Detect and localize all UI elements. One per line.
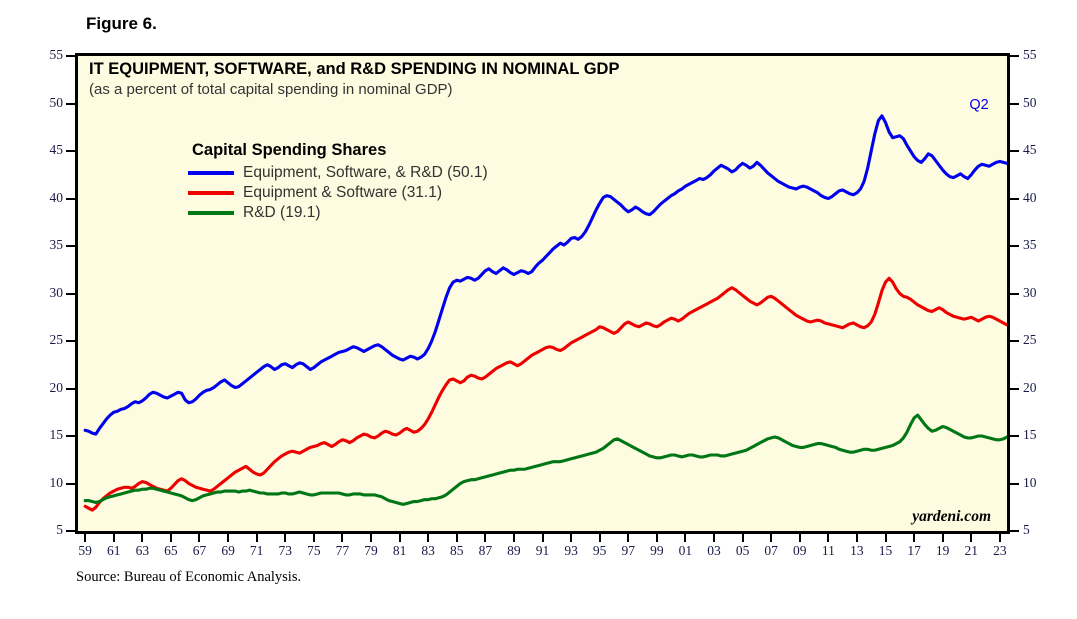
x-axis-label-73: 73 — [270, 543, 300, 559]
y-axis-label-left-15: 15 — [33, 427, 63, 443]
x-tick — [513, 534, 515, 542]
x-axis-label-61: 61 — [99, 543, 129, 559]
y-axis-label-left-35: 35 — [33, 237, 63, 253]
x-tick — [885, 534, 887, 542]
chart-title: IT EQUIPMENT, SOFTWARE, and R&D SPENDING… — [89, 60, 619, 79]
source-note: Source: Bureau of Economic Analysis. — [76, 569, 301, 586]
x-tick — [542, 534, 544, 542]
y-tick-left — [66, 483, 75, 485]
y-axis-label-right-45: 45 — [1023, 142, 1053, 158]
x-tick — [198, 534, 200, 542]
x-axis-label-01: 01 — [670, 543, 700, 559]
legend-title: Capital Spending Shares — [192, 141, 488, 160]
x-tick — [684, 534, 686, 542]
y-axis-label-left-20: 20 — [33, 380, 63, 396]
x-tick — [970, 534, 972, 542]
x-axis-label-71: 71 — [242, 543, 272, 559]
chart-subtitle: (as a percent of total capital spending … — [89, 81, 453, 98]
legend-label-equipment-software-rd: Equipment, Software, & R&D (50.1) — [243, 164, 488, 182]
x-axis-label-03: 03 — [699, 543, 729, 559]
y-tick-left — [66, 198, 75, 200]
y-tick-right — [1010, 55, 1019, 57]
x-axis-label-99: 99 — [642, 543, 672, 559]
x-tick — [656, 534, 658, 542]
y-tick-right — [1010, 150, 1019, 152]
y-axis-label-left-10: 10 — [33, 475, 63, 491]
y-axis-label-right-15: 15 — [1023, 427, 1053, 443]
legend-label-equipment-software: Equipment & Software (31.1) — [243, 184, 442, 202]
x-tick — [456, 534, 458, 542]
x-axis-label-21: 21 — [956, 543, 986, 559]
y-tick-right — [1010, 340, 1019, 342]
x-axis-label-19: 19 — [928, 543, 958, 559]
x-axis-label-91: 91 — [528, 543, 558, 559]
watermark: yardeni.com — [912, 508, 991, 526]
x-axis-label-75: 75 — [299, 543, 329, 559]
x-tick — [713, 534, 715, 542]
y-axis-label-left-50: 50 — [33, 95, 63, 111]
x-axis-label-11: 11 — [813, 543, 843, 559]
y-tick-left — [66, 530, 75, 532]
x-axis-label-65: 65 — [156, 543, 186, 559]
x-tick — [141, 534, 143, 542]
x-axis-label-69: 69 — [213, 543, 243, 559]
legend-item-equipment-software-rd: Equipment, Software, & R&D (50.1) — [188, 163, 488, 183]
x-axis-label-93: 93 — [556, 543, 586, 559]
x-tick — [827, 534, 829, 542]
y-axis-label-right-20: 20 — [1023, 380, 1053, 396]
y-axis-label-right-30: 30 — [1023, 285, 1053, 301]
q2-annotation: Q2 — [969, 97, 988, 113]
x-tick — [484, 534, 486, 542]
y-tick-left — [66, 103, 75, 105]
x-tick — [227, 534, 229, 542]
y-axis-label-left-45: 45 — [33, 142, 63, 158]
x-axis-label-87: 87 — [470, 543, 500, 559]
y-axis-label-right-5: 5 — [1023, 522, 1053, 538]
x-axis-label-77: 77 — [327, 543, 357, 559]
y-tick-right — [1010, 388, 1019, 390]
x-axis-label-15: 15 — [871, 543, 901, 559]
x-axis-label-79: 79 — [356, 543, 386, 559]
x-axis-label-07: 07 — [756, 543, 786, 559]
series-line-equipment-software — [85, 278, 1007, 510]
y-axis-label-left-55: 55 — [33, 47, 63, 63]
legend-item-equipment-software: Equipment & Software (31.1) — [188, 183, 488, 203]
x-tick — [427, 534, 429, 542]
x-axis-label-95: 95 — [585, 543, 615, 559]
chart-legend: Capital Spending Shares Equipment, Softw… — [188, 141, 488, 223]
legend-label-rd: R&D (19.1) — [243, 204, 321, 222]
x-tick — [256, 534, 258, 542]
x-tick — [113, 534, 115, 542]
y-tick-left — [66, 245, 75, 247]
y-tick-left — [66, 340, 75, 342]
x-axis-label-81: 81 — [385, 543, 415, 559]
x-tick — [913, 534, 915, 542]
x-axis-label-85: 85 — [442, 543, 472, 559]
x-axis-label-67: 67 — [184, 543, 214, 559]
x-axis-label-89: 89 — [499, 543, 529, 559]
x-axis-label-23: 23 — [985, 543, 1015, 559]
y-axis-label-right-50: 50 — [1023, 95, 1053, 111]
y-axis-label-right-55: 55 — [1023, 47, 1053, 63]
chart-svg — [78, 56, 1007, 531]
x-axis-label-83: 83 — [413, 543, 443, 559]
y-tick-left — [66, 388, 75, 390]
x-tick — [170, 534, 172, 542]
x-axis-label-63: 63 — [127, 543, 157, 559]
legend-swatch-green — [188, 211, 234, 215]
figure-label: Figure 6. — [86, 14, 157, 34]
x-tick — [627, 534, 629, 542]
x-tick — [341, 534, 343, 542]
x-tick — [84, 534, 86, 542]
chart-plot-area: IT EQUIPMENT, SOFTWARE, and R&D SPENDING… — [75, 53, 1010, 534]
y-tick-right — [1010, 293, 1019, 295]
y-tick-left — [66, 293, 75, 295]
y-tick-right — [1010, 103, 1019, 105]
x-tick — [770, 534, 772, 542]
x-axis-label-13: 13 — [842, 543, 872, 559]
legend-swatch-red — [188, 191, 234, 195]
x-axis-label-97: 97 — [613, 543, 643, 559]
y-tick-right — [1010, 530, 1019, 532]
x-tick — [570, 534, 572, 542]
y-tick-right — [1010, 198, 1019, 200]
y-axis-label-left-5: 5 — [33, 522, 63, 538]
x-tick — [284, 534, 286, 542]
y-tick-left — [66, 435, 75, 437]
x-tick — [599, 534, 601, 542]
y-tick-right — [1010, 435, 1019, 437]
x-tick — [942, 534, 944, 542]
x-tick — [856, 534, 858, 542]
x-tick — [999, 534, 1001, 542]
y-axis-label-right-35: 35 — [1023, 237, 1053, 253]
y-axis-label-left-30: 30 — [33, 285, 63, 301]
x-tick — [742, 534, 744, 542]
legend-swatch-blue — [188, 171, 234, 175]
y-axis-label-right-10: 10 — [1023, 475, 1053, 491]
y-axis-label-right-40: 40 — [1023, 190, 1053, 206]
y-tick-left — [66, 150, 75, 152]
x-axis-label-09: 09 — [785, 543, 815, 559]
y-tick-left — [66, 55, 75, 57]
x-axis-label-59: 59 — [70, 543, 100, 559]
series-line-r-d — [85, 400, 1007, 505]
x-axis-label-05: 05 — [728, 543, 758, 559]
y-tick-right — [1010, 483, 1019, 485]
y-axis-label-left-25: 25 — [33, 332, 63, 348]
x-tick — [313, 534, 315, 542]
x-tick — [399, 534, 401, 542]
x-axis-label-17: 17 — [899, 543, 929, 559]
y-tick-right — [1010, 245, 1019, 247]
x-tick — [799, 534, 801, 542]
legend-item-rd: R&D (19.1) — [188, 203, 488, 223]
y-axis-label-right-25: 25 — [1023, 332, 1053, 348]
x-tick — [370, 534, 372, 542]
y-axis-label-left-40: 40 — [33, 190, 63, 206]
